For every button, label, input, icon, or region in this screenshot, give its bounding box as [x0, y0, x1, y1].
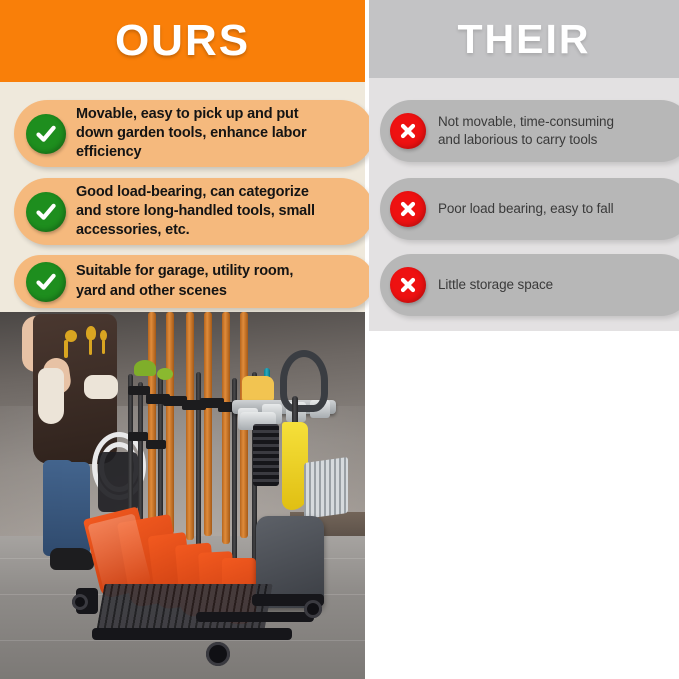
ours-benefit-text-2: Good load-bearing, can categorize and st…: [76, 183, 315, 240]
ours-benefit-row-2: Good load-bearing, can categorize and st…: [14, 178, 374, 245]
apron-motif-icon: [64, 340, 68, 358]
check-circle-icon: [26, 192, 66, 232]
metal-basket: [304, 457, 348, 519]
their-drawback-text-1: Not movable, time-consuming and laboriou…: [438, 113, 614, 149]
their-column: THEIR Not movable, time-consuming and la…: [369, 0, 679, 679]
ours-column: OURS Movable, easy to pick up and put do…: [0, 0, 365, 679]
apron-motif-icon: [86, 326, 96, 340]
their-drawback-row-1: Not movable, time-consuming and laboriou…: [380, 100, 679, 162]
comparison-infographic: OURS Movable, easy to pick up and put do…: [0, 0, 679, 679]
x-circle-icon: [390, 267, 426, 303]
ours-header-title: OURS: [115, 19, 250, 63]
ours-header: OURS: [0, 0, 365, 82]
check-circle-icon: [26, 114, 66, 154]
check-circle-icon: [26, 262, 66, 302]
caster-wheel: [304, 600, 322, 618]
yellow-gloves: [242, 376, 274, 402]
x-circle-icon: [390, 191, 426, 227]
their-header-title: THEIR: [458, 19, 591, 60]
apron-motif-icon: [89, 339, 92, 355]
their-drawback-text-2: Poor load bearing, easy to fall: [438, 200, 614, 218]
their-header: THEIR: [369, 0, 679, 78]
ours-benefit-row-1: Movable, easy to pick up and put down ga…: [14, 100, 374, 167]
worker-glove: [84, 375, 118, 399]
their-drawback-row-3: Little storage space: [380, 254, 679, 316]
ours-benefit-text-1: Movable, easy to pick up and put down ga…: [76, 105, 306, 162]
broom-head: [253, 424, 279, 486]
caster-wheel: [206, 642, 230, 666]
worker-leg: [62, 462, 90, 556]
ours-benefit-text-3: Suitable for garage, utility room, yard …: [76, 262, 293, 300]
apron-motif-icon: [102, 340, 105, 354]
caster-wheel: [72, 594, 88, 610]
ours-product-photo: [0, 312, 365, 679]
worker-glove: [38, 368, 64, 424]
their-drawback-row-2: Poor load bearing, easy to fall: [380, 178, 679, 240]
worker-shoe: [50, 548, 94, 570]
tool-hook-handle: [280, 350, 328, 412]
their-drawback-text-3: Little storage space: [438, 276, 553, 294]
ours-benefit-row-3: Suitable for garage, utility room, yard …: [14, 255, 374, 308]
tool-head: [157, 368, 173, 380]
tool-head: [134, 360, 156, 376]
x-circle-icon: [390, 113, 426, 149]
